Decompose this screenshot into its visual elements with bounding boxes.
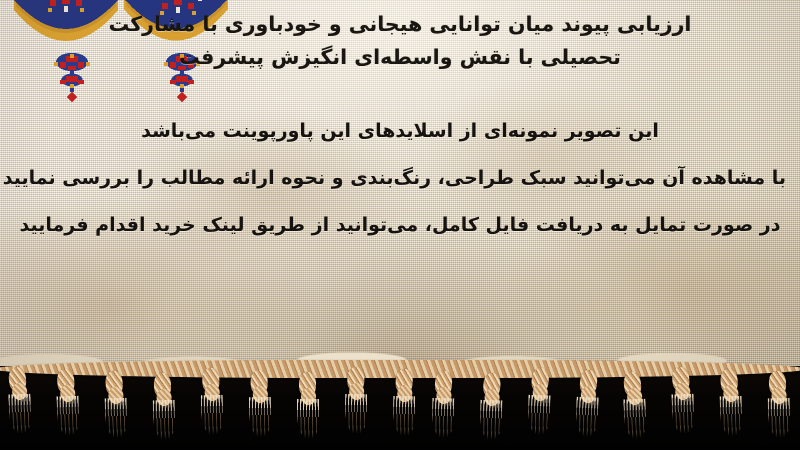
tassel-brush <box>393 396 416 436</box>
slide-canvas: ارزیابی پیوند میان توانایی هیجانی و خودب… <box>0 0 800 450</box>
carpet-tassel <box>101 370 131 439</box>
tassel-brush <box>249 397 271 437</box>
tassel-brush <box>720 396 743 437</box>
tassel-brush <box>8 394 31 435</box>
body-line-1: این تصویر نمونه‌ای از اسلایدهای این پاور… <box>14 108 786 155</box>
tassel-brush <box>56 396 79 437</box>
carpet-tassel <box>198 368 226 437</box>
tassel-brush <box>152 400 175 440</box>
tassel-brush <box>527 395 550 436</box>
page-title: ارزیابی پیوند میان توانایی هیجانی و خودب… <box>0 8 800 74</box>
tassel-brush <box>768 398 791 438</box>
carpet-tassel <box>342 367 369 435</box>
tassel-brush <box>297 399 319 439</box>
carpet-tassel <box>149 372 178 441</box>
carpet-tassel <box>3 366 35 436</box>
tassel-brush <box>201 395 224 435</box>
carpet-tassel <box>476 372 506 441</box>
tassel-brush <box>432 398 455 438</box>
carpet-tassel <box>571 369 603 439</box>
tassel-brush <box>624 399 647 440</box>
tassel-brush <box>480 400 503 441</box>
carpet-tassel <box>246 370 273 438</box>
text-layer: ارزیابی پیوند میان توانایی هیجانی و خودب… <box>0 0 800 372</box>
body-line-2: با مشاهده آن می‌توانید سبک طراحی، رنگ‌بن… <box>14 155 786 202</box>
tassel-brush <box>672 394 695 435</box>
title-line-1: ارزیابی پیوند میان توانایی هیجانی و خودب… <box>18 8 782 41</box>
carpet-tassel <box>619 371 651 441</box>
title-line-2: تحصیلی با نقش واسطه‌ای انگیزش پیشرفت <box>18 41 782 74</box>
carpet-tassel <box>428 370 457 439</box>
tassel-brush <box>104 398 127 439</box>
carpet-tassel <box>668 366 699 436</box>
carpet-fringe <box>0 370 800 450</box>
carpet-tassel <box>716 368 746 437</box>
tassel-brush <box>575 397 598 438</box>
body-line-3: در صورت تمایل به دریافت فایل کامل، می‌تو… <box>14 202 786 249</box>
carpet-tassel <box>295 372 321 440</box>
tassel-brush <box>345 394 367 434</box>
carpet-tassel <box>524 367 555 437</box>
carpet-tassel <box>390 369 418 438</box>
carpet-tassel <box>52 368 83 438</box>
carpet-tassel <box>765 370 794 439</box>
body-text: این تصویر نمونه‌ای از اسلایدهای این پاور… <box>0 108 800 249</box>
